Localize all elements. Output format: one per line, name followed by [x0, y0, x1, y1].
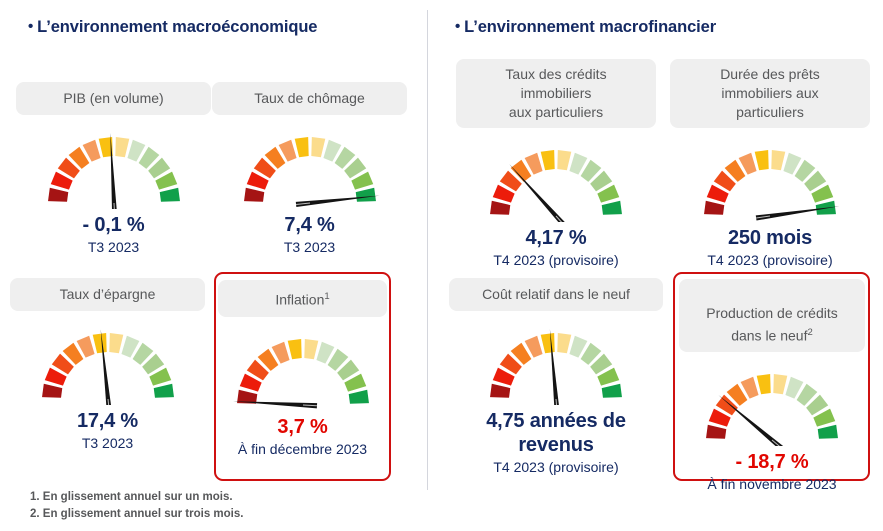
section-title-macroeconomic: •L’environnement macroéconomique — [28, 18, 317, 37]
gauge-value-chomage: 7,4 % — [212, 213, 407, 237]
gauge-dial — [39, 125, 189, 209]
section-title-text: L’environnement macrofinancier — [464, 18, 716, 36]
gauge-epargne — [10, 321, 205, 405]
gauge-card-pib[interactable]: PIB (en volume) - 0,1 % T3 2023 — [16, 82, 211, 256]
gauge-segment-7 — [557, 150, 571, 170]
gauge-card-taux-credits[interactable]: Taux des crédits immobiliers aux particu… — [456, 59, 656, 269]
panel-divider — [427, 10, 428, 490]
gauge-segment-7 — [304, 339, 318, 359]
gauge-value-duree-prets: 250 mois — [670, 226, 870, 250]
gauge-segment-6 — [541, 150, 555, 170]
gauge-dial — [481, 321, 631, 405]
gauge-segment-1 — [42, 384, 62, 398]
gauge-taux-credits — [456, 138, 656, 222]
gauge-label-duree-prets: Durée des prêts immobiliers aux particul… — [670, 59, 870, 128]
macroeconomic-panel: •L’environnement macroéconomique PIB (en… — [0, 0, 427, 531]
gauge-dial — [33, 321, 183, 405]
gauge-segment-1 — [704, 201, 724, 215]
gauge-label-taux-credits: Taux des crédits immobiliers aux particu… — [456, 59, 656, 128]
gauge-value-taux-credits: 4,17 % — [456, 226, 656, 250]
gauge-dial — [235, 125, 385, 209]
gauge-segment-7 — [771, 150, 785, 170]
gauge-label-production-credits-text: Production de crédits dans le neuf — [706, 305, 838, 344]
gauge-label-cout-relatif: Coût relatif dans le neuf — [449, 278, 663, 311]
gauge-period-inflation: À fin décembre 2023 — [218, 440, 387, 458]
gauge-inflation — [218, 327, 387, 411]
gauge-segment-6 — [541, 333, 555, 353]
gauge-card-duree-prets[interactable]: Durée des prêts immobiliers aux particul… — [670, 59, 870, 269]
gauge-value-epargne: 17,4 % — [10, 409, 205, 433]
gauge-segment-12 — [355, 188, 375, 202]
gauge-card-cout-relatif[interactable]: Coût relatif dans le neuf 4,75 années de… — [449, 278, 663, 476]
gauge-period-cout-relatif: T4 2023 (provisoire) — [449, 458, 663, 476]
gauge-segment-6 — [287, 339, 301, 359]
gauge-segment-7 — [773, 374, 787, 394]
gauge-label-chomage: Taux de chômage — [212, 82, 407, 115]
section-title-text: L’environnement macroéconomique — [37, 18, 317, 36]
gauge-production-credits — [679, 362, 865, 446]
gauge-segment-6 — [294, 137, 308, 157]
macrofinancial-panel: •L’environnement macrofinancier Taux des… — [429, 0, 883, 531]
gauge-label-pib: PIB (en volume) — [16, 82, 211, 115]
gauge-segment-12 — [153, 384, 173, 398]
gauge-card-chomage[interactable]: Taux de chômage 7,4 % T3 2023 — [212, 82, 407, 256]
gauge-segment-7 — [115, 137, 129, 157]
gauge-value-production-credits: - 18,7 % — [679, 450, 865, 474]
gauge-label-production-credits: Production de crédits dans le neuf2 — [679, 279, 865, 352]
gauge-segment-1 — [48, 188, 68, 202]
gauge-segment-12 — [159, 188, 179, 202]
gauge-dial — [695, 138, 845, 222]
gauge-segment-1 — [706, 424, 726, 438]
footnotes: 1. En glissement annuel sur un mois. 2. … — [30, 489, 243, 523]
gauge-label-epargne: Taux d’épargne — [10, 278, 205, 311]
gauge-dial — [697, 362, 847, 446]
gauge-value-pib: - 0,1 % — [16, 213, 211, 237]
gauge-segment-12 — [602, 384, 622, 398]
gauge-segment-7 — [557, 333, 571, 353]
gauge-period-chomage: T3 2023 — [212, 238, 407, 256]
gauge-segment-6 — [755, 150, 769, 170]
gauge-period-taux-credits: T4 2023 (provisoire) — [456, 251, 656, 269]
gauge-segment-7 — [109, 333, 123, 353]
gauge-segment-1 — [490, 384, 510, 398]
bullet-icon: • — [455, 18, 460, 35]
gauge-segment-12 — [816, 201, 836, 215]
gauge-card-epargne[interactable]: Taux d’épargne 17,4 % T3 2023 — [10, 278, 205, 452]
gauge-dial — [481, 138, 631, 222]
section-title-macrofinancial: •L’environnement macrofinancier — [455, 18, 716, 37]
gauge-segment-1 — [244, 188, 264, 202]
gauge-pib — [16, 125, 211, 209]
gauge-segment-1 — [490, 201, 510, 215]
bullet-icon: • — [28, 18, 33, 35]
gauge-card-production-credits[interactable]: Production de crédits dans le neuf2 - 18… — [679, 279, 865, 493]
gauge-segment-6 — [92, 333, 106, 353]
footnote-ref-1: 1 — [324, 291, 329, 302]
gauge-chomage — [212, 125, 407, 209]
gauge-period-pib: T3 2023 — [16, 238, 211, 256]
gauge-period-epargne: T3 2023 — [10, 434, 205, 452]
footnote-1: 1. En glissement annuel sur un mois. — [30, 489, 243, 506]
footnote-ref-2: 2 — [808, 327, 813, 338]
gauge-cout-relatif — [449, 321, 663, 405]
gauge-duree-prets — [670, 138, 870, 222]
footnote-2: 2. En glissement annuel sur trois mois. — [30, 506, 243, 523]
gauge-period-duree-prets: T4 2023 (provisoire) — [670, 251, 870, 269]
gauge-label-inflation: Inflation1 — [218, 280, 387, 317]
gauge-value-inflation: 3,7 % — [218, 415, 387, 439]
gauge-segment-12 — [818, 424, 838, 438]
gauge-segment-7 — [311, 137, 325, 157]
gauge-period-production-credits: À fin novembre 2023 — [679, 475, 865, 493]
gauge-value-cout-relatif: 4,75 années de revenus — [449, 409, 663, 457]
gauge-dial — [228, 327, 378, 411]
gauge-card-inflation[interactable]: Inflation1 3,7 % À fin décembre 2023 — [218, 280, 387, 458]
gauge-segment-12 — [602, 201, 622, 215]
gauge-segment-6 — [757, 374, 771, 394]
gauge-segment-12 — [348, 389, 368, 403]
gauge-label-inflation-text: Inflation — [275, 292, 324, 308]
